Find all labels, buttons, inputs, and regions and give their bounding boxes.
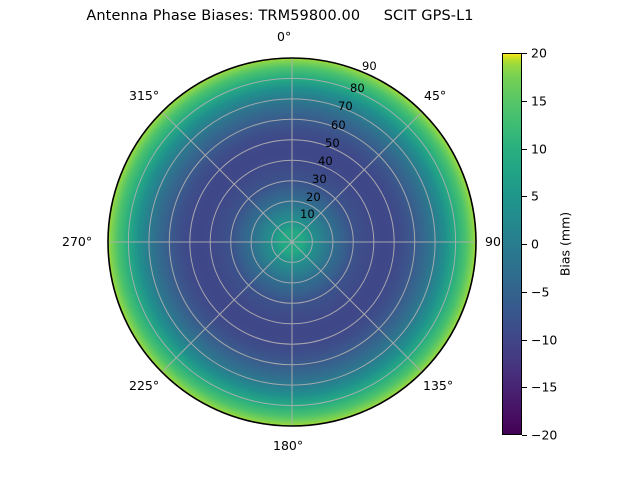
r-tick-10: 10: [300, 207, 315, 221]
colorbar-tick-label-5: −5: [531, 284, 549, 299]
colorbar-tick-mark-7: [522, 387, 527, 388]
colorbar-tick-label-0: 20: [531, 46, 547, 61]
colorbar[interactable]: 20151050−5−10−15−20: [502, 53, 522, 435]
polar-grid: [108, 58, 476, 426]
theta-tick-135: 135°: [423, 378, 453, 393]
colorbar-tick-mark-0: [522, 53, 527, 54]
colorbar-tick-label-2: 10: [531, 141, 547, 156]
polar-axes[interactable]: [107, 57, 477, 427]
colorbar-tick-label-7: −15: [531, 380, 557, 395]
r-tick-60: 60: [331, 118, 346, 132]
theta-tick-90: 90: [485, 234, 501, 249]
figure-canvas: Antenna Phase Biases: TRM59800.00 SCIT G…: [0, 0, 640, 480]
r-tick-90: 90: [362, 59, 377, 73]
colorbar-tick-label-4: 0: [531, 237, 539, 252]
colorbar-tick-mark-8: [522, 435, 527, 436]
colorbar-tick-label-3: 5: [531, 189, 539, 204]
colorbar-tick-mark-5: [522, 292, 527, 293]
r-tick-40: 40: [318, 154, 333, 168]
polar-plot-svg: [107, 57, 477, 427]
colorbar-tick-mark-2: [522, 149, 527, 150]
r-tick-50: 50: [325, 136, 340, 150]
colorbar-tick-label-6: −10: [531, 332, 557, 347]
r-tick-80: 80: [350, 81, 365, 95]
colorbar-tick-mark-6: [522, 340, 527, 341]
colorbar-tick-mark-3: [522, 196, 527, 197]
colorbar-tick-label-8: −20: [531, 428, 557, 443]
colorbar-gradient: [502, 53, 522, 435]
colorbar-tick-mark-1: [522, 101, 527, 102]
theta-tick-180: 180°: [273, 438, 303, 453]
colorbar-tick-mark-4: [522, 244, 527, 245]
r-tick-70: 70: [338, 99, 353, 113]
theta-tick-225: 225°: [129, 378, 159, 393]
colorbar-tick-label-1: 15: [531, 93, 547, 108]
colorbar-axis-label: Bias (mm): [558, 212, 573, 276]
theta-tick-315: 315°: [129, 88, 159, 103]
theta-tick-270: 270°: [62, 234, 92, 249]
theta-tick-0: 0°: [277, 29, 291, 44]
r-tick-30: 30: [312, 172, 327, 186]
page-title: Antenna Phase Biases: TRM59800.00 SCIT G…: [0, 8, 560, 24]
theta-tick-45: 45°: [424, 88, 446, 103]
r-tick-20: 20: [306, 190, 321, 204]
